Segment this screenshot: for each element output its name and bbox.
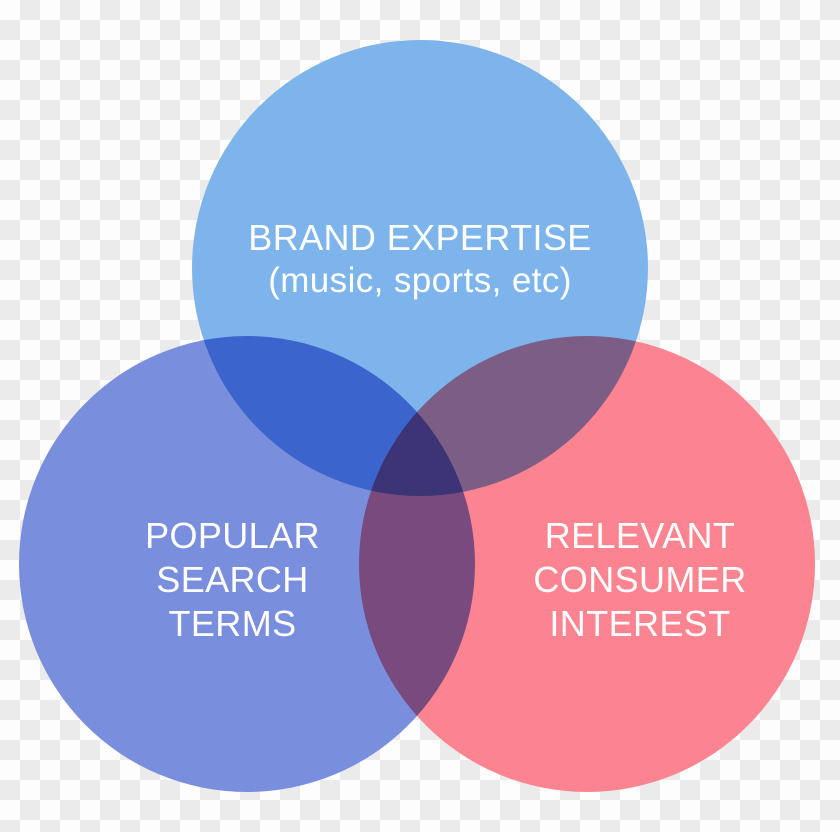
venn-circle-relevant-consumer-interest xyxy=(359,336,815,792)
venn-diagram: BRAND EXPERTISE (music, sports, etc) POP… xyxy=(0,0,840,832)
venn-circles-layer xyxy=(0,0,840,832)
